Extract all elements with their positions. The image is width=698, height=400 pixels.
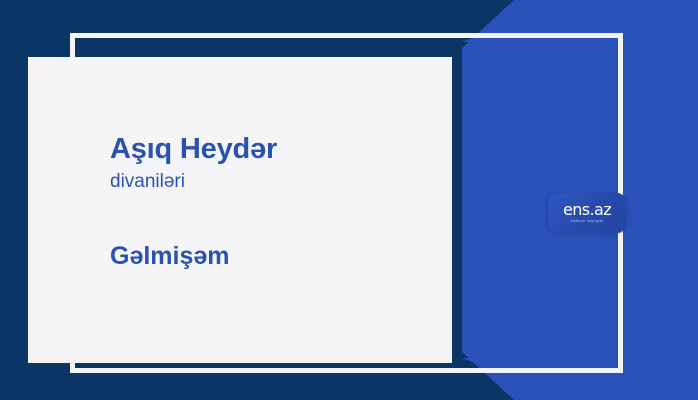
content-card: Aşıq Heydər divaniləri Gəlmişəm <box>28 57 452 363</box>
content-card-text-block: Aşıq Heydər divaniləri Gəlmişəm <box>110 133 428 271</box>
logo-wordmark: ens.az <box>563 202 611 218</box>
page-subtitle: divaniləri <box>110 171 428 194</box>
logo-tagline: elektron nəşriyyat <box>571 220 604 223</box>
page-title: Aşıq Heydər <box>110 133 428 165</box>
poster-canvas: Aşıq Heydər divaniləri Gəlmişəm ens.az e… <box>0 0 698 400</box>
ens-az-logo-badge[interactable]: ens.az elektron nəşriyyat <box>548 193 626 233</box>
piece-title: Gəlmişəm <box>110 242 428 271</box>
